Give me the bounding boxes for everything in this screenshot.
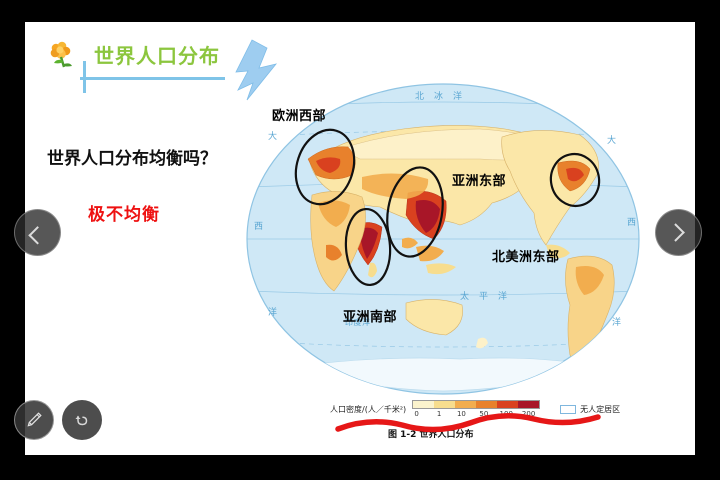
legend-tick-4: 100 (496, 410, 517, 418)
legend-nodata-label: 无人定居区 (580, 404, 620, 415)
map-graphic (230, 67, 680, 447)
undo-icon (72, 410, 92, 430)
undo-button[interactable] (62, 400, 102, 440)
legend-color-ramp: 011050100200 (412, 400, 540, 418)
ocean-label-3: 大 (268, 129, 278, 142)
chevron-right-icon (666, 223, 684, 241)
legend-tick-0: 0 (406, 410, 427, 418)
map-legend: 人口密度/(人／千米²) 011050100200 无人定居区 (330, 400, 620, 418)
legend-swatch-4 (497, 401, 518, 408)
ocean-label-1: 太 平 洋 (460, 289, 508, 302)
flower-icon (47, 41, 77, 69)
region-label-0: 欧洲西部 (272, 105, 326, 124)
legend-ramp-bar (412, 400, 540, 409)
ocean-label-4: 西 (254, 219, 264, 232)
next-slide-button[interactable] (655, 209, 702, 256)
map-caption: 图 1-2 世界人口分布 (388, 427, 474, 440)
ocean-label-5: 洋 (268, 305, 278, 318)
legend-nodata-entry: 无人定居区 (560, 404, 620, 415)
ocean-label-0: 北 冰 洋 (415, 89, 463, 102)
legend-ramp-ticks: 011050100200 (412, 410, 540, 418)
legend-tick-2: 10 (451, 410, 472, 418)
chevron-left-icon (28, 226, 46, 244)
region-label-1: 亚洲东部 (452, 170, 506, 189)
legend-swatch-2 (455, 401, 476, 408)
legend-swatch-0 (413, 401, 434, 408)
page-title: 世界人口分布 (94, 40, 220, 69)
legend-tick-5: 200 (518, 410, 539, 418)
legend-swatch-5 (518, 401, 539, 408)
pen-tool-button[interactable] (14, 400, 54, 440)
legend-nodata-swatch (560, 405, 576, 414)
ocean-label-7: 西 (627, 215, 637, 228)
region-label-2: 北美洲东部 (492, 246, 560, 265)
ocean-label-6: 大 (607, 133, 617, 146)
legend-tick-3: 50 (473, 410, 494, 418)
ocean-label-8: 洋 (612, 315, 622, 328)
prev-slide-button[interactable] (14, 209, 61, 256)
title-rule-decoration (80, 77, 225, 80)
region-label-3: 亚洲南部 (343, 306, 397, 325)
legend-title: 人口密度/(人／千米²) (330, 404, 406, 415)
world-population-density-map[interactable]: 北 冰 洋太 平 洋印度洋大西洋大西洋 欧洲西部亚洲东部北美洲东部亚洲南部 人口… (230, 67, 680, 447)
pen-icon (24, 410, 44, 430)
legend-swatch-1 (434, 401, 455, 408)
answer-text: 极不均衡 (88, 200, 160, 225)
presentation-viewer: 世界人口分布 世界人口分布均衡吗？ 极不均衡 (0, 0, 720, 480)
legend-swatch-3 (476, 401, 497, 408)
slide-canvas[interactable]: 世界人口分布 世界人口分布均衡吗？ 极不均衡 (25, 22, 695, 455)
legend-tick-1: 1 (429, 410, 450, 418)
